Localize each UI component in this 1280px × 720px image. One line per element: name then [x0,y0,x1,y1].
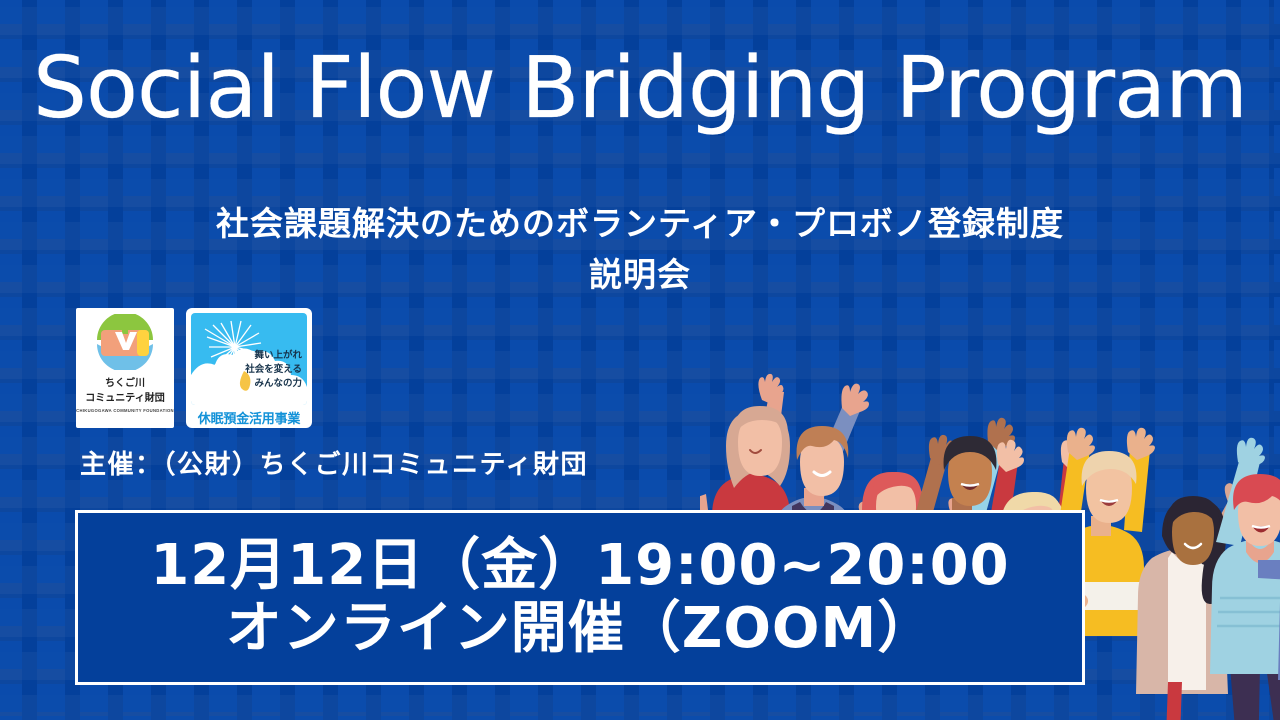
foundation-name-romaji: CHIKUGOGAWA COMMUNITY FOUNDATION [76,408,174,415]
foundation-name-line-2: コミュニティ財団 [85,389,164,404]
subtitle-line-1: 社会課題解決のためのボランティア・プロボノ登録制度 [0,198,1280,249]
kyumin-caption: 休眠預金活用事業 [191,408,307,427]
logo-group: ちくご川 コミュニティ財団 CHIKUGOGAWA COMMUNITY FOUN… [76,308,312,428]
event-venue: オンライン開催（ZOOM） [226,598,935,661]
host-line: 主催：（公財）ちくご川コミュニティ財団 [80,444,588,481]
slogan-line-2: 社会を変える [245,363,302,377]
slogan-line-3: みんなの力 [245,377,302,391]
logo-kyumin-yokin: 舞い上がれ 社会を変える みんなの力 休眠預金活用事業 [186,308,312,428]
dandelion-illustration: 舞い上がれ 社会を変える みんなの力 [191,313,307,405]
foundation-name-line-1: ちくご川 [105,374,145,389]
subtitle-line-2: 説明会 [0,249,1280,300]
subtitle: 社会課題解決のためのボランティア・プロボノ登録制度 説明会 [0,198,1280,300]
event-date-time: 12月12日（金）19:00~20:00 [150,535,1009,598]
event-details-box: 12月12日（金）19:00~20:00 オンライン開催（ZOOM） [75,510,1085,685]
logo-chikugogawa-community-foundation: ちくご川 コミュニティ財団 CHIKUGOGAWA COMMUNITY FOUN… [76,308,174,428]
poster-canvas: Social Flow Bridging Program 社会課題解決のためのボ… [0,0,1280,720]
dandelion-slogan: 舞い上がれ 社会を変える みんなの力 [245,349,302,390]
foundation-mark-icon [89,314,161,370]
page-title: Social Flow Bridging Program [0,46,1280,131]
slogan-line-1: 舞い上がれ [245,349,302,363]
